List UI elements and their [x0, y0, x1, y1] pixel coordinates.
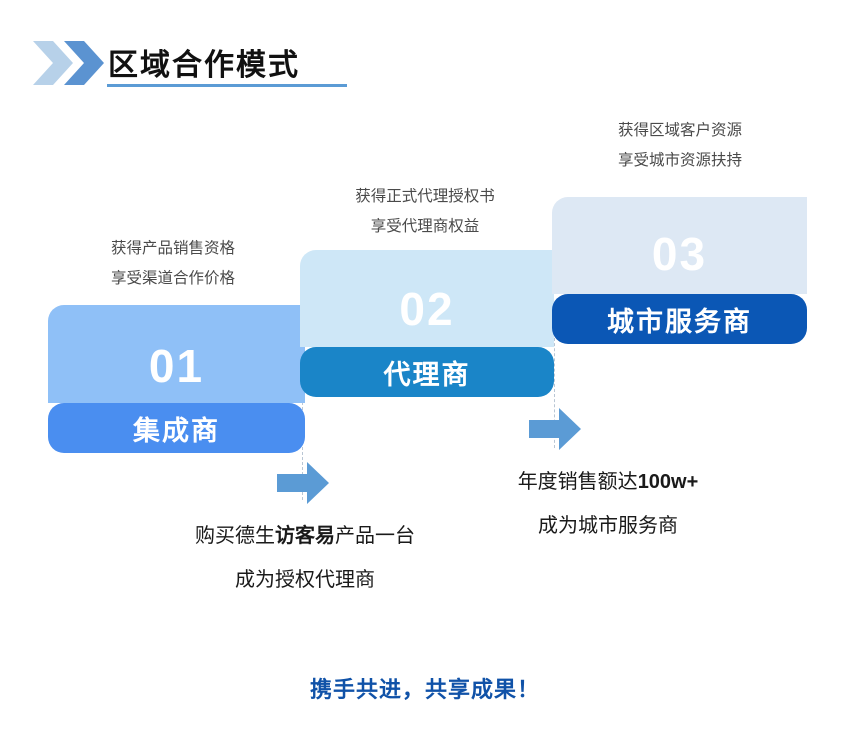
transition-description-2-line1: 年度销售额达100w+	[428, 460, 788, 504]
transition-1-line1-suffix: 产品一台	[335, 525, 415, 547]
card-caption-02: 获得正式代理授权书 享受代理商权益	[320, 182, 530, 242]
card-agent-label: 代理商	[384, 353, 471, 392]
card-caption-01-line1: 获得产品销售资格	[68, 234, 278, 264]
transition-1-line1-prefix: 购买德生	[195, 525, 275, 547]
transition-arrow-2	[529, 408, 581, 455]
card-caption-01-line2: 享受渠道合作价格	[68, 264, 278, 294]
card-caption-02-line1: 获得正式代理授权书	[320, 182, 530, 212]
card-caption-03: 获得区域客户资源 享受城市资源扶持	[575, 116, 785, 176]
arrow-right-icon	[277, 462, 329, 504]
transition-1-line1-bold: 访客易	[275, 525, 335, 547]
transition-description-2: 年度销售额达100w+ 成为城市服务商	[428, 460, 788, 548]
card-city-service-provider[interactable]: 03 城市服务商	[552, 197, 807, 344]
card-integrator-bottom[interactable]: 集成商	[48, 403, 305, 453]
card-caption-02-line2: 享受代理商权益	[320, 212, 530, 242]
card-city-service-provider-label: 城市服务商	[607, 300, 752, 339]
card-integrator-number: 01	[48, 343, 305, 389]
card-caption-03-line2: 享受城市资源扶持	[575, 146, 785, 176]
card-caption-03-line1: 获得区域客户资源	[575, 116, 785, 146]
footer-slogan: 携手共进，共享成果！	[0, 672, 850, 704]
transition-description-1-line2: 成为授权代理商	[115, 558, 495, 602]
transition-2-line1-bold: 100w+	[638, 471, 699, 493]
card-caption-01: 获得产品销售资格 享受渠道合作价格	[68, 234, 278, 294]
card-integrator[interactable]: 01 集成商	[48, 305, 305, 453]
card-agent-number: 02	[300, 286, 554, 332]
transition-2-line1-prefix: 年度销售额达	[518, 471, 638, 493]
card-integrator-label: 集成商	[133, 409, 220, 448]
transition-arrow-1	[277, 462, 329, 509]
card-agent[interactable]: 02 代理商	[300, 250, 554, 397]
card-city-service-provider-number: 03	[552, 231, 807, 277]
arrow-right-icon	[529, 408, 581, 450]
card-city-service-provider-bottom[interactable]: 城市服务商	[552, 294, 807, 344]
transition-description-2-line2: 成为城市服务商	[428, 504, 788, 548]
card-agent-bottom[interactable]: 代理商	[300, 347, 554, 397]
partnership-stairs: 获得产品销售资格 享受渠道合作价格 获得正式代理授权书 享受代理商权益 获得区域…	[0, 0, 850, 737]
